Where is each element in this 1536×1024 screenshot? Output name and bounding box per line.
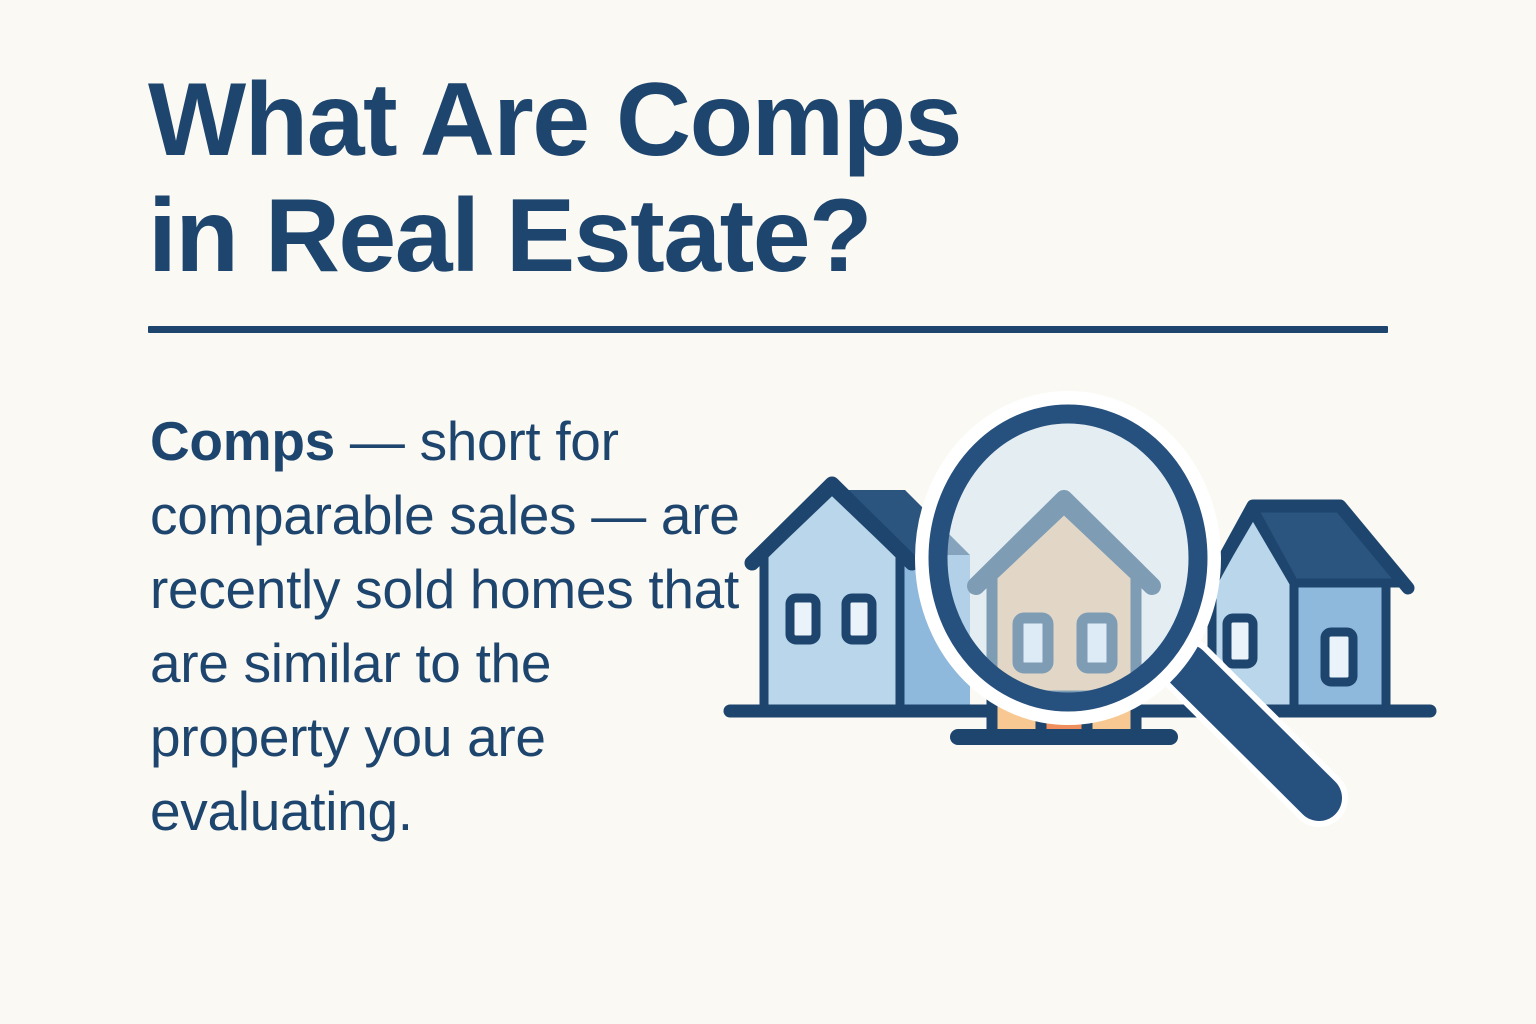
title-line-1: What Are Comps [148,62,1148,178]
left-house-window-2 [846,598,872,640]
title-divider [148,326,1388,333]
right-house-window-2 [1325,632,1353,682]
body-lead-word: Comps [150,410,335,472]
houses-magnifier-illustration [700,380,1460,850]
page-title: What Are Comps in Real Estate? [148,62,1148,295]
body-rest-text: — short for comparable sales — are recen… [150,410,740,842]
body-paragraph: Comps — short for comparable sales — are… [150,404,740,848]
infographic-canvas: What Are Comps in Real Estate? Comps — s… [0,0,1536,1024]
right-house-window-1 [1227,618,1253,664]
left-house-window-1 [790,598,816,640]
title-line-2: in Real Estate? [148,178,1148,294]
magnifier-lens [930,406,1206,710]
illustration-svg [700,380,1460,850]
body-copy: Comps — short for comparable sales — are… [150,404,740,848]
